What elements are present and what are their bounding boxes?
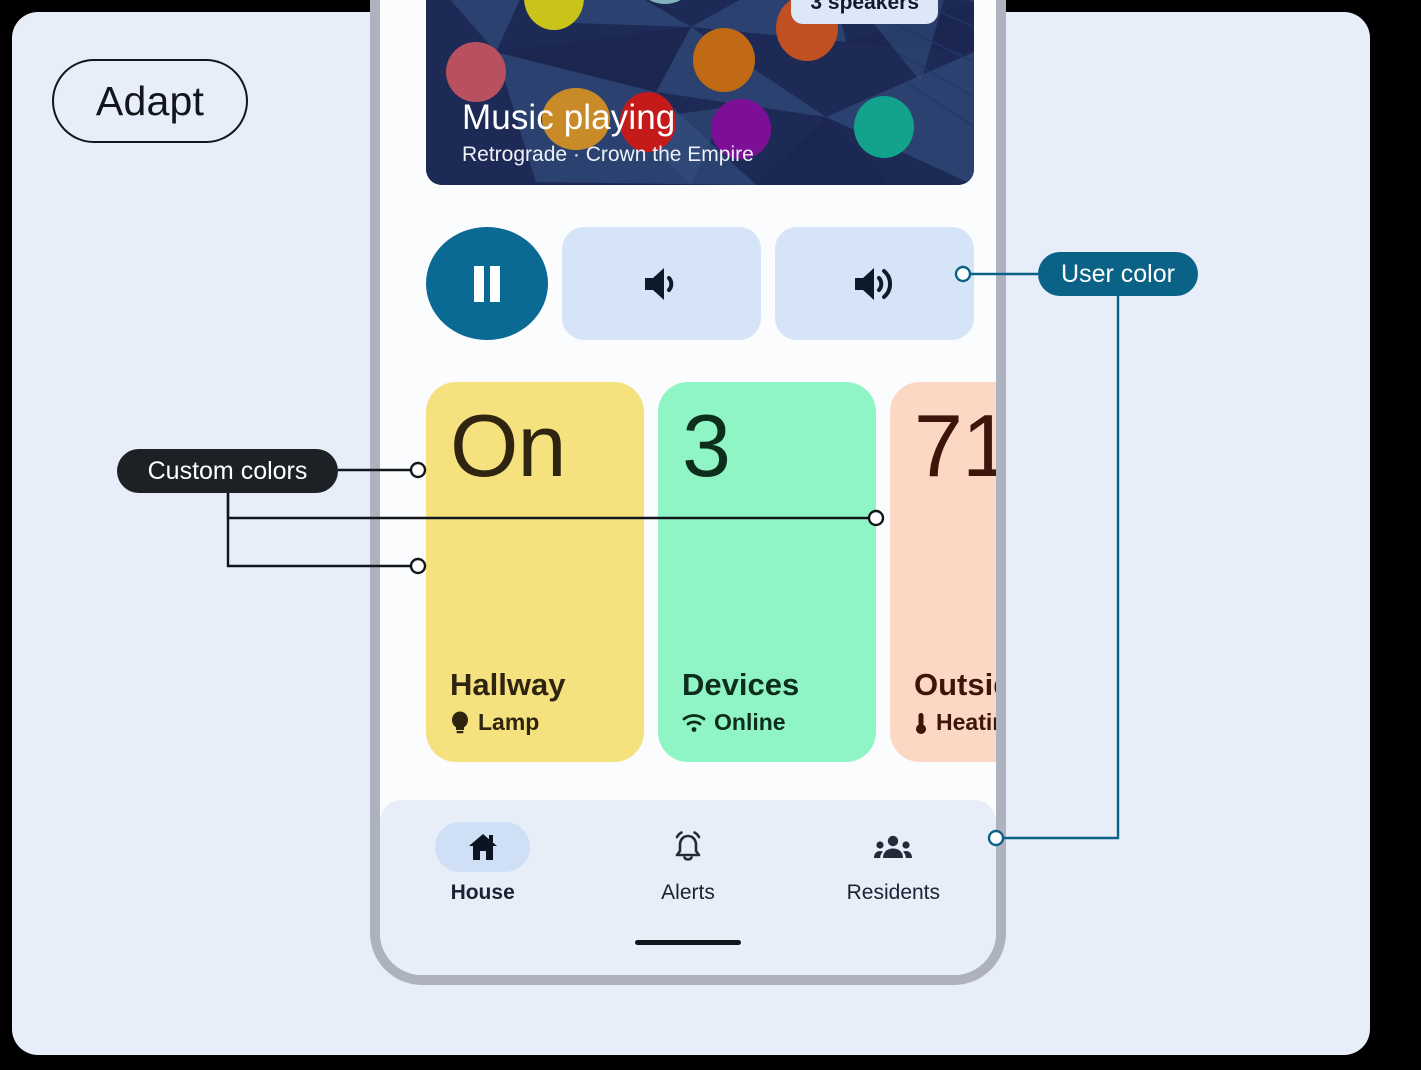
adapt-chip-label: Adapt bbox=[96, 78, 204, 125]
tile-status: Online bbox=[682, 709, 852, 736]
tile-footer: Hallway Lamp bbox=[450, 669, 620, 736]
tile-value: On bbox=[450, 404, 620, 488]
tile-name: Devices bbox=[682, 669, 852, 702]
annotation-label: Custom colors bbox=[148, 457, 308, 486]
tile-outside[interactable]: 71 Outside Heating bbox=[890, 382, 996, 762]
bottom-navigation: House Alerts bbox=[380, 800, 996, 975]
adapt-chip[interactable]: Adapt bbox=[52, 59, 248, 143]
volume-down-button[interactable] bbox=[562, 227, 761, 340]
annotation-label: User color bbox=[1061, 260, 1175, 289]
people-group-icon bbox=[874, 834, 912, 860]
tile-status: Lamp bbox=[450, 709, 620, 736]
wifi-icon bbox=[682, 713, 706, 733]
tile-value: 3 bbox=[682, 404, 852, 488]
status-tiles: On Hallway Lamp bbox=[426, 382, 996, 762]
nav-item-alerts[interactable]: Alerts bbox=[585, 822, 790, 905]
tile-status-label: Online bbox=[714, 709, 786, 736]
lightbulb-icon bbox=[450, 711, 470, 735]
tile-footer: Devices Online bbox=[682, 669, 852, 736]
nav-pill bbox=[640, 822, 735, 872]
nav-items: House Alerts bbox=[380, 822, 996, 905]
nav-label: House bbox=[451, 881, 515, 905]
volume-down-icon bbox=[641, 264, 683, 304]
tile-name: Outside bbox=[914, 669, 996, 702]
phone-device-frame: 3 speakers Music playing Retrograde · Cr… bbox=[370, 0, 1006, 985]
nav-item-residents[interactable]: Residents bbox=[791, 822, 996, 905]
bell-ring-icon bbox=[671, 831, 705, 863]
annotation-custom-colors[interactable]: Custom colors bbox=[117, 449, 338, 493]
tile-footer: Outside Heating bbox=[914, 669, 996, 736]
volume-up-icon bbox=[851, 264, 899, 304]
now-playing-title: Music playing bbox=[462, 99, 754, 138]
nav-pill bbox=[435, 822, 530, 872]
tile-status: Heating bbox=[914, 709, 996, 736]
tile-hallway[interactable]: On Hallway Lamp bbox=[426, 382, 644, 762]
home-icon bbox=[467, 832, 499, 862]
thermometer-icon bbox=[914, 711, 928, 735]
now-playing-text: Music playing Retrograde · Crown the Emp… bbox=[462, 99, 754, 168]
tile-status-label: Lamp bbox=[478, 709, 539, 736]
tile-devices[interactable]: 3 Devices Online bbox=[658, 382, 876, 762]
tile-value: 71 bbox=[914, 404, 996, 488]
phone-screen: 3 speakers Music playing Retrograde · Cr… bbox=[380, 0, 996, 975]
now-playing-card[interactable]: 3 speakers Music playing Retrograde · Cr… bbox=[426, 0, 974, 185]
tile-name: Hallway bbox=[450, 669, 620, 702]
now-playing-subtitle: Retrograde · Crown the Empire bbox=[462, 143, 754, 167]
design-canvas: Adapt bbox=[12, 12, 1370, 1055]
nav-label: Alerts bbox=[661, 881, 715, 905]
nav-item-house[interactable]: House bbox=[380, 822, 585, 905]
nav-label: Residents bbox=[847, 881, 940, 905]
volume-up-button[interactable] bbox=[775, 227, 974, 340]
pause-button[interactable] bbox=[426, 227, 548, 340]
pause-icon bbox=[470, 264, 504, 304]
media-controls bbox=[426, 227, 974, 340]
tile-status-label: Heating bbox=[936, 709, 996, 736]
annotation-user-color[interactable]: User color bbox=[1038, 252, 1198, 296]
speakers-badge[interactable]: 3 speakers bbox=[791, 0, 938, 24]
nav-pill bbox=[846, 822, 941, 872]
home-indicator bbox=[635, 940, 741, 945]
